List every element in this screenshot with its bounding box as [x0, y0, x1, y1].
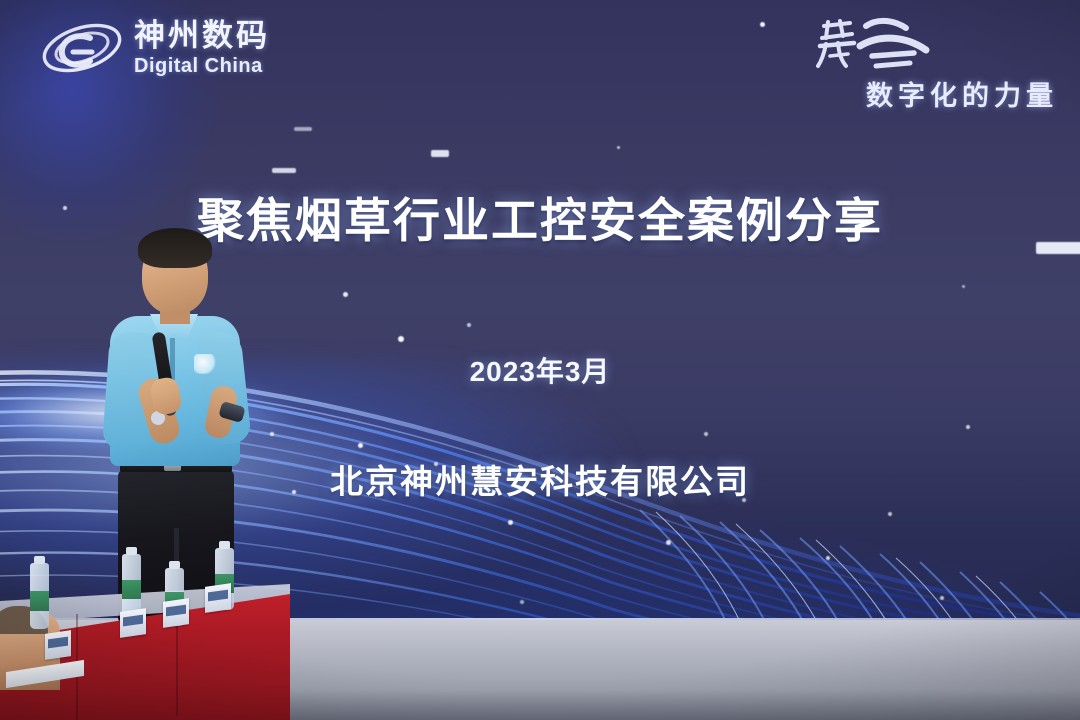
light-particle	[398, 336, 404, 342]
bottle-cap	[169, 561, 180, 569]
logo-english-name: Digital China	[134, 56, 270, 76]
name-card-text	[166, 605, 186, 617]
light-particle	[520, 600, 524, 604]
logo-chinese-name: 神州数码	[134, 20, 270, 51]
light-particle	[270, 432, 274, 436]
name-card	[45, 630, 71, 660]
name-card-text	[48, 637, 68, 649]
light-particle	[343, 292, 348, 297]
water-bottle	[30, 563, 49, 629]
light-particle	[962, 285, 965, 288]
light-particle	[826, 556, 830, 560]
light-particle	[467, 323, 471, 327]
name-card	[205, 583, 231, 613]
bottle-label	[122, 580, 141, 599]
bottle-cap	[34, 556, 45, 564]
name-card-text	[123, 615, 143, 627]
bottle-label	[30, 591, 49, 611]
presenter-hair	[138, 228, 212, 268]
light-particle	[888, 512, 892, 516]
bottle-cap	[219, 541, 230, 549]
light-particle	[508, 520, 513, 525]
light-streak	[431, 150, 449, 157]
presenter-shirt-logo	[194, 354, 216, 374]
bottle-cap	[126, 547, 137, 555]
light-particle	[760, 22, 765, 27]
light-particle	[358, 443, 363, 448]
light-particle	[704, 432, 708, 436]
light-particle	[666, 540, 671, 545]
conference-photo: 神州数码 Digital China 数字化的力量 聚焦烟草行业工控	[0, 0, 1080, 720]
event-logo: 数字化的力量	[788, 14, 1058, 110]
light-particle	[940, 596, 944, 600]
light-streak	[294, 127, 312, 131]
name-card-text	[208, 590, 228, 602]
digital-china-swirl-mark	[40, 16, 124, 80]
juhe-calligraphy-icon	[810, 16, 960, 78]
digital-china-logo: 神州数码 Digital China	[40, 16, 270, 80]
light-particle	[617, 146, 620, 149]
name-card	[120, 608, 146, 638]
light-particle	[966, 425, 970, 429]
name-card	[163, 598, 189, 628]
water-bottle	[122, 554, 141, 616]
event-slogan: 数字化的力量	[866, 74, 1058, 113]
light-streak	[272, 168, 296, 173]
